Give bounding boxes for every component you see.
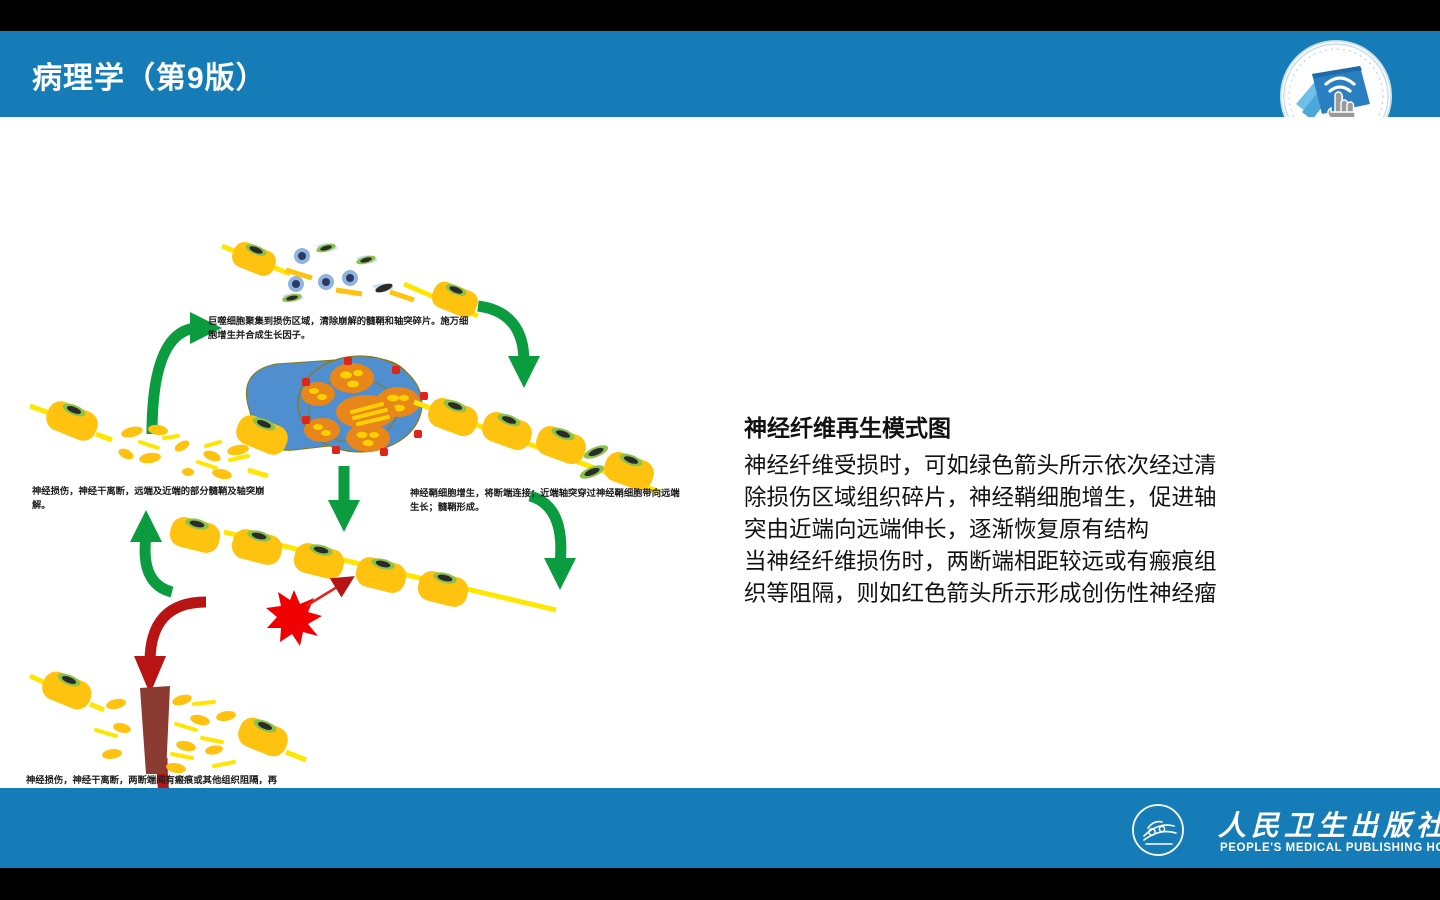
green-arrow-center-down <box>328 466 360 532</box>
explanation-line: 神经纤维受损时，可如绿色箭头所示依次经过清 <box>744 450 1344 482</box>
explanation-line: 突由近端向远端伸长，逐渐恢复原有结构 <box>744 514 1344 546</box>
caption-top: 巨噬细胞聚集到损伤区域，清除崩解的髓鞘和轴突碎片。施万细胞增生并合成生长因子。 <box>208 315 470 343</box>
explanation-line: 当神经纤维损伤时，两断端相距较远或有瘢痕组 <box>744 546 1344 578</box>
caption-right: 神经鞘细胞增生，将断端连接；近端轴突穿过神经鞘细胞带向远端生长；髓鞘形成。 <box>410 487 682 515</box>
green-arrow-bottom-left-up <box>130 510 172 592</box>
publisher-name-cn: 人民卫生出版社 <box>1218 804 1440 844</box>
macrophage-cells <box>281 242 414 304</box>
explanation-heading: 神经纤维再生模式图 <box>744 413 1344 444</box>
green-arrow-top-right-down <box>478 306 540 388</box>
scar-barrier-group <box>30 668 306 775</box>
page-title: 病理学（第9版） <box>32 53 267 97</box>
reconnected-fiber <box>167 514 556 610</box>
publisher-logo: 人民卫生出版社 PEOPLE'S MEDICAL PUBLISHING HOUS… <box>1112 802 1402 864</box>
content-area: 巨噬细胞聚集到损伤区域，清除崩解的髓鞘和轴突碎片。施万细胞增生并合成生长因子。 … <box>0 117 1440 788</box>
letterbox-top <box>0 0 1440 31</box>
regenerating-fiber-right <box>414 394 660 493</box>
publisher-emblem-icon <box>1112 802 1208 862</box>
injury-burst <box>266 584 342 646</box>
red-arrow-down-to-scar <box>134 602 206 694</box>
slide-root: 病理学（第9版） 融合教材 <box>0 0 1440 900</box>
explanation-text-block: 神经纤维再生模式图 神经纤维受损时，可如绿色箭头所示依次经过清 除损伤区域组织碎… <box>744 413 1344 610</box>
publisher-name-en: PEOPLE'S MEDICAL PUBLISHING HOUSE <box>1220 842 1440 854</box>
explanation-line: 织等阻隔，则如红色箭头所示形成创伤性神经瘤 <box>744 578 1344 610</box>
explanation-line: 除损伤区域组织碎片，神经鞘细胞增生，促进轴 <box>744 482 1344 514</box>
caption-left: 神经损伤，神经干离断，远端及近端的部分髓鞘及轴突崩解。 <box>32 485 272 513</box>
macrophage-cluster-row <box>222 239 481 321</box>
scar-wedge <box>140 686 170 774</box>
myelin-segment <box>222 239 290 280</box>
letterbox-bottom <box>0 868 1440 900</box>
